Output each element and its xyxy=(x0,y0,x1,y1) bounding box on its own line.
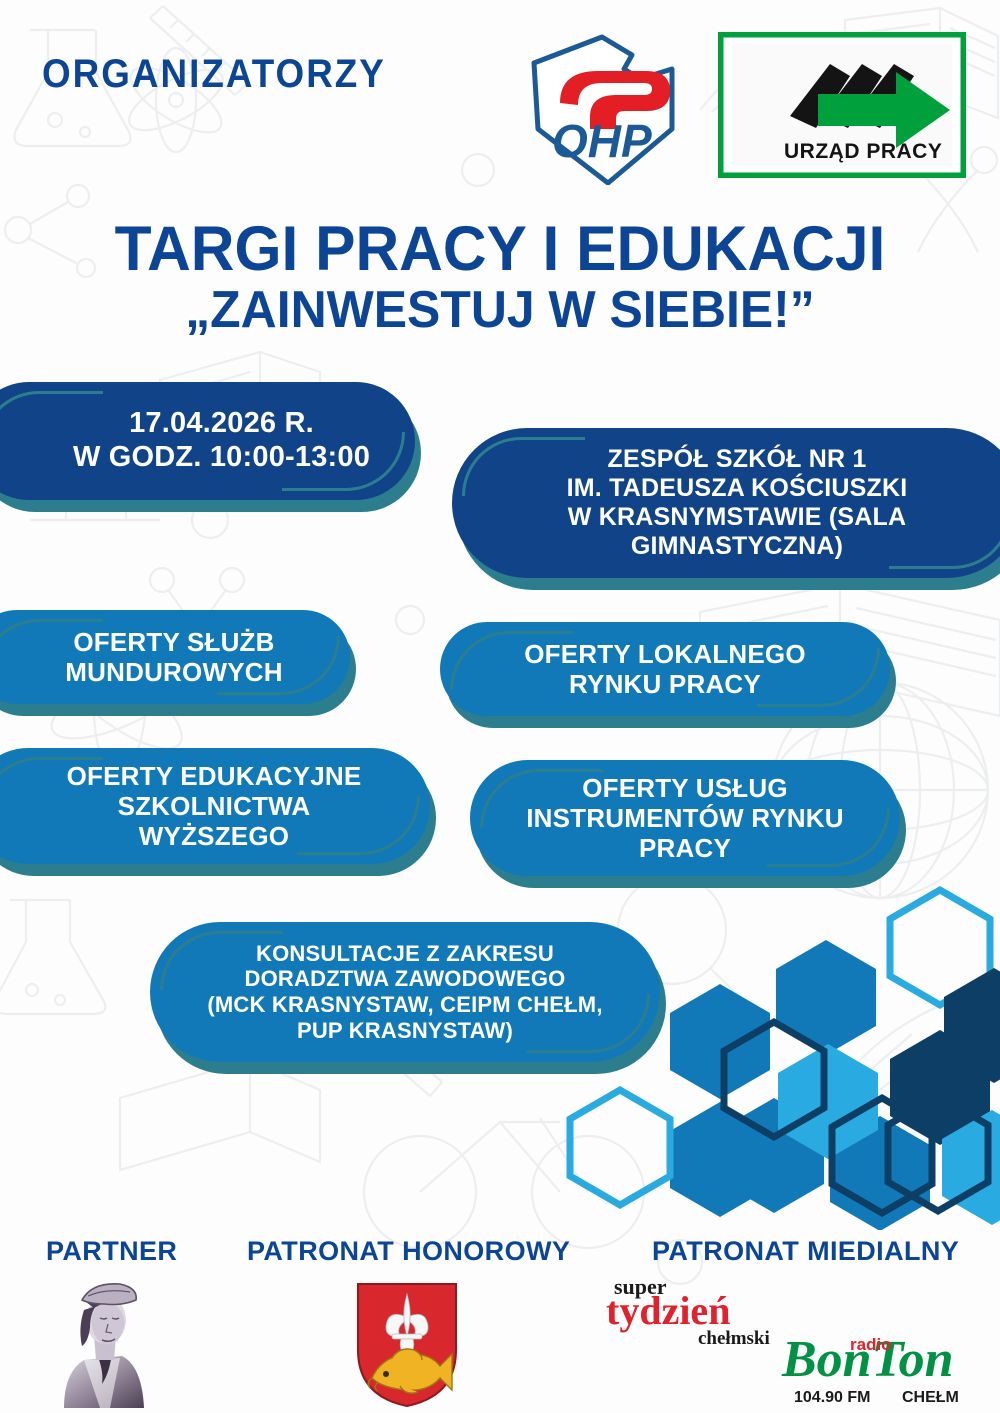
higher-education-box: OFERTY EDUKACYJNE SZKOLNICTWA WYŻSZEGO xyxy=(0,748,430,864)
edu-line-1: OFERTY EDUKACYJNE xyxy=(67,761,362,791)
super-tydzien-word-chelmski: chełmski xyxy=(698,1328,770,1349)
venue-box-text: ZESPÓŁ SZKÓŁ NR 1 IM. TADEUSZA KOŚCIUSZK… xyxy=(545,445,930,561)
local-market-box-text: OFERTY LOKALNEGO RYNKU PRACY xyxy=(502,639,828,699)
venue-line-3: W KRASNYMSTAWIE (SALA xyxy=(568,503,906,531)
consultations-box-text: KONSULTACJE Z ZAKRESU DORADZTWA ZAWODOWE… xyxy=(185,941,624,1043)
labour-market-instruments-box-text: OFERTY USŁUG INSTRUMENTÓW RYNKU PRACY xyxy=(504,773,866,863)
uniformed-line-2: MUNDUROWYCH xyxy=(65,657,282,687)
consultations-box: KONSULTACJE Z ZAKRESU DORADZTWA ZAWODOWE… xyxy=(150,922,660,1062)
honorary-patronage-label: PATRONAT HONOROWY xyxy=(247,1236,570,1267)
ohp-logo-text: OHP xyxy=(552,115,652,167)
date-line: 17.04.2026 R. xyxy=(129,407,314,439)
header: ORGANIZATORZY OHP URZĄD PRACY xyxy=(0,0,1000,190)
uniformed-line-1: OFERTY SŁUŻB xyxy=(73,627,274,657)
super-tydzien-logo: super tydzień chełmski xyxy=(604,1272,804,1354)
cons-line-3: (MCK KRASNYSTAW, CEIPM CHEŁM, xyxy=(207,992,602,1017)
title-line-1: TARGI PRACY I EDUKACJI xyxy=(20,218,980,281)
venue-line-2: IM. TADEUSZA KOŚCIUSZKI xyxy=(567,474,908,502)
local-market-box: OFERTY LOKALNEGO RYNKU PRACY xyxy=(440,622,890,716)
venue-line-4: GIMNASTYCZNA) xyxy=(631,532,843,560)
edu-line-2: SZKOLNICTWA xyxy=(118,791,311,821)
cons-line-4: PUP KRASNYSTAW) xyxy=(297,1018,513,1043)
instr-line-2: INSTRUMENTÓW RYNKU xyxy=(526,803,844,833)
super-tydzien-word-tydzien: tydzień xyxy=(606,1288,730,1333)
cons-line-2: DORADZTWA ZAWODOWEGO xyxy=(245,966,566,991)
radio-bonton-city: CHEŁM xyxy=(902,1389,959,1406)
date-time-box: 17.04.2026 R. W GODZ. 10:00-13:00 xyxy=(0,382,415,500)
media-patronage-label: PATRONAT MIEDIALNY xyxy=(652,1236,959,1267)
local-line-1: OFERTY LOKALNEGO xyxy=(524,639,806,669)
urzad-pracy-logo-text: URZĄD PRACY xyxy=(784,140,942,163)
poster-canvas: ORGANIZATORZY OHP URZĄD PRACY TARGI PRAC… xyxy=(0,0,1000,1413)
instr-line-3: PRACY xyxy=(639,833,731,863)
radio-bonton-logo: BonTon radio 104.90 FM CHEŁM xyxy=(778,1318,998,1410)
radio-bonton-frequency: 104.90 FM xyxy=(794,1389,870,1406)
venue-line-1: ZESPÓŁ SZKÓŁ NR 1 xyxy=(608,445,867,473)
labour-market-instruments-box: OFERTY USŁUG INSTRUMENTÓW RYNKU PRACY xyxy=(470,760,900,876)
venue-box: ZESPÓŁ SZKÓŁ NR 1 IM. TADEUSZA KOŚCIUSZK… xyxy=(452,428,1000,578)
uniformed-services-box: OFERTY SŁUŻB MUNDUROWYCH xyxy=(0,610,350,704)
time-line: W GODZ. 10:00-13:00 xyxy=(73,441,370,473)
organizers-label: ORGANIZATORZY xyxy=(42,52,386,97)
title-line-2: „ZAINWESTUJ W SIEBIE!” xyxy=(20,283,980,337)
kosciuszko-portrait xyxy=(44,1280,164,1408)
partner-label: PARTNER xyxy=(46,1236,177,1267)
uniformed-services-box-text: OFERTY SŁUŻB MUNDUROWYCH xyxy=(15,627,304,687)
edu-line-3: WYŻSZEGO xyxy=(139,821,289,851)
cons-line-1: KONSULTACJE Z ZAKRESU xyxy=(256,941,554,966)
urzad-pracy-logo: URZĄD PRACY xyxy=(718,32,966,178)
instr-line-1: OFERTY USŁUG xyxy=(582,773,788,803)
krasnystaw-coat-of-arms xyxy=(348,1278,466,1410)
poster-title: TARGI PRACY I EDUKACJI „ZAINWESTUJ W SIE… xyxy=(0,218,1000,337)
radio-bonton-word-radio: radio xyxy=(850,1335,892,1354)
local-line-2: RYNKU PRACY xyxy=(569,669,761,699)
higher-education-box-text: OFERTY EDUKACYJNE SZKOLNICTWA WYŻSZEGO xyxy=(17,761,384,851)
date-time-box-text: 17.04.2026 R. W GODZ. 10:00-13:00 xyxy=(0,407,392,474)
ohp-logo: OHP xyxy=(520,25,690,185)
